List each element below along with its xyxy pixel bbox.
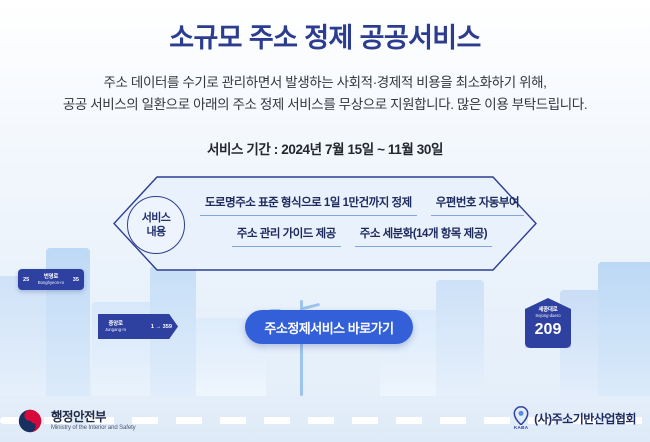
service-item-row: 주소 관리 가이드 제공 주소 세분화(14개 항목 제공) [197, 225, 527, 247]
building-silhouette [0, 276, 50, 398]
service-item-row: 도로명주소 표준 형식으로 1일 1만건까지 정제 우편번호 자동부여 [197, 194, 527, 216]
service-content-badge: 서비스 내용 [127, 196, 185, 254]
association-name: (사)주소기반산업협회 [534, 410, 636, 427]
service-item: 우편번호 자동부여 [431, 194, 524, 216]
street-sign-left-number: 25 [23, 277, 29, 283]
badge-line-1: 서비스 [142, 211, 171, 225]
street-sign-name-block: 번영로 Bonghyeon-ro [38, 274, 64, 285]
plaque-building-number: 209 [535, 321, 562, 339]
taegeuk-icon [16, 407, 44, 435]
street-sign-jungang-ro: 중앙로 Jungang-ro 1 → 359 [98, 314, 178, 339]
plaque-street-name-en: Sejong-daero [535, 313, 560, 318]
ministry-footer-logo: 행정안전부 Ministry of the Interior and Safet… [16, 407, 136, 435]
lead-line-1: 주소 데이터를 수기로 관리하면서 발생하는 사회적·경제적 비용을 최소화하기… [0, 72, 650, 94]
service-item: 도로명주소 표준 형식으로 1일 1만건까지 정제 [200, 194, 417, 216]
map-pin-icon [513, 406, 529, 425]
service-item-list: 도로명주소 표준 형식으로 1일 1만건까지 정제 우편번호 자동부여 주소 관… [197, 194, 527, 256]
street-sign-right-number: 35 [73, 277, 79, 283]
street-sign-name-en: Jungang-ro [105, 327, 126, 332]
building-silhouette [598, 262, 650, 398]
building-silhouette [436, 280, 484, 398]
badge-line-2: 내용 [146, 225, 165, 239]
street-sign-bonghyeon-ro: 25 번영로 Bonghyeon-ro 35 [18, 269, 84, 290]
lead-paragraph: 주소 데이터를 수기로 관리하면서 발생하는 사회적·경제적 비용을 최소화하기… [0, 72, 650, 116]
ministry-name-en: Ministry of the Interior and Safety [51, 424, 136, 432]
street-sign-name-block: 중앙로 Jungang-ro [105, 321, 126, 332]
street-sign-number-range: 1 → 359 [151, 324, 172, 330]
service-content-panel: 서비스 내용 도로명주소 표준 형식으로 1일 1만건까지 정제 우편번호 자동… [113, 176, 537, 271]
service-period-text: 서비스 기간 : 2024년 7월 15일 ~ 11월 30일 [0, 138, 650, 158]
street-sign-name-en: Bonghyeon-ro [38, 280, 64, 285]
ministry-name-ko: 행정안전부 [51, 410, 136, 424]
address-cleansing-service-banner: 소규모 주소 정제 공공서비스 주소 데이터를 수기로 관리하면서 발생하는 사… [0, 0, 650, 442]
lead-line-2: 공공 서비스의 일환으로 아래의 주소 정제 서비스를 무상으로 지원합니다. … [0, 94, 650, 116]
association-footer-logo: KABA (사)주소기반산업협회 [513, 406, 636, 431]
kaba-logo: KABA [513, 406, 529, 431]
service-item: 주소 관리 가이드 제공 [232, 225, 341, 247]
service-item: 주소 세분화(14개 항목 제공) [355, 225, 492, 247]
page-title: 소규모 주소 정제 공공서비스 [0, 16, 650, 55]
kaba-wordmark: KABA [514, 426, 528, 431]
address-cleansing-service-link-button[interactable]: 주소정제서비스 바로가기 [245, 310, 413, 344]
ministry-name-block: 행정안전부 Ministry of the Interior and Safet… [51, 410, 136, 432]
